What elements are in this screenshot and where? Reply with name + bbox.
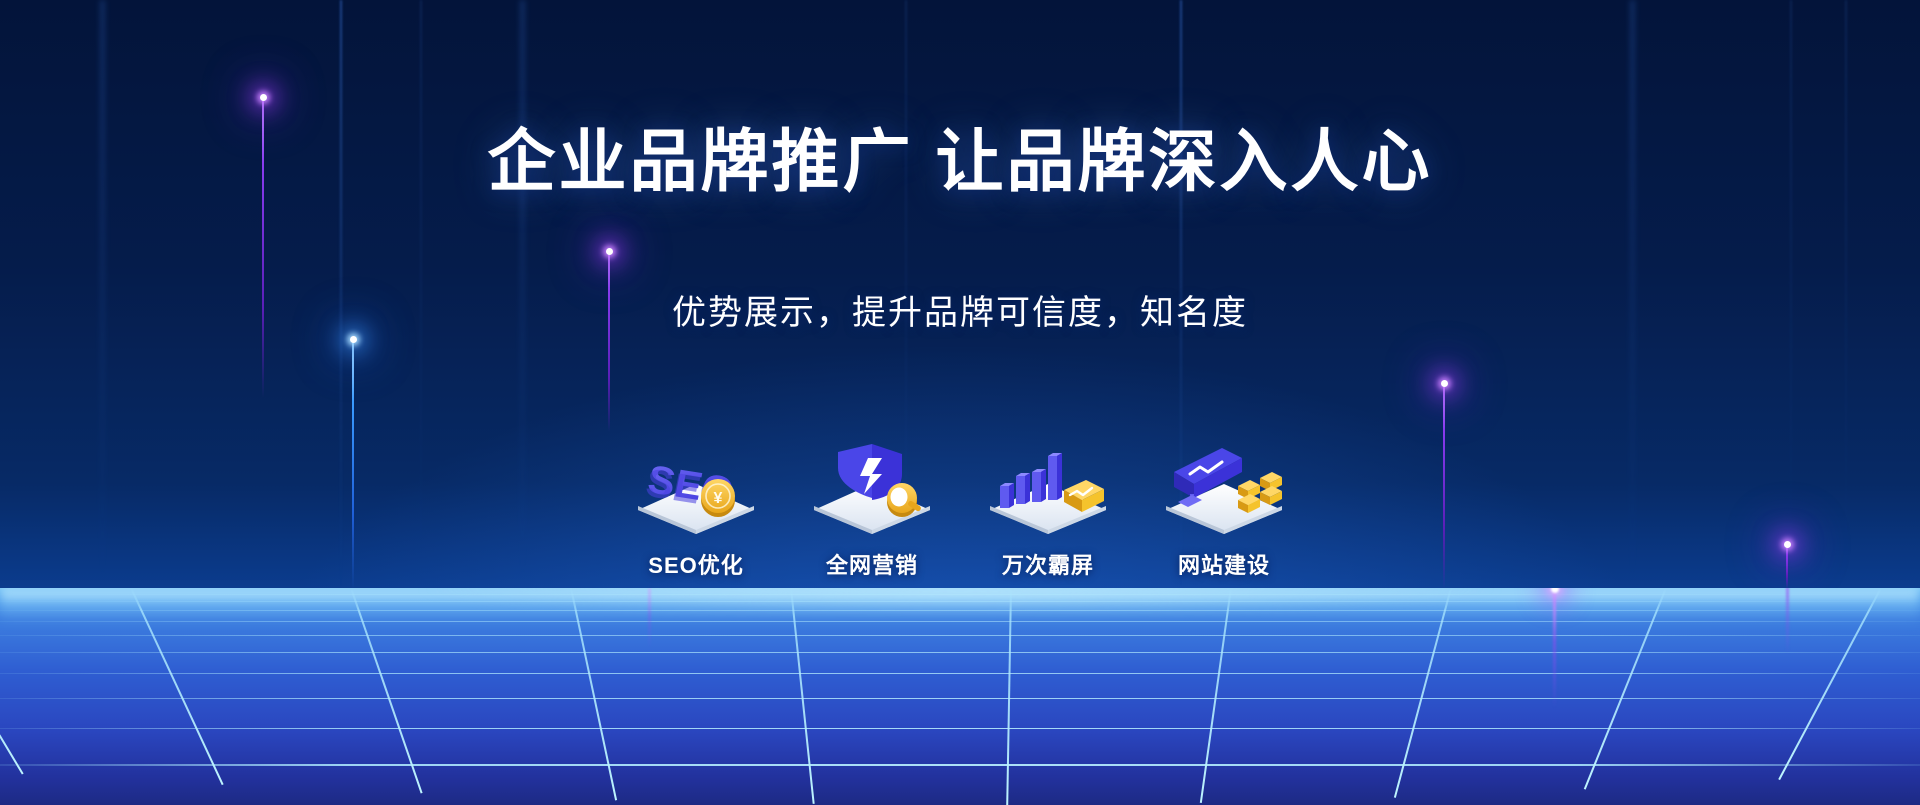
banner-content: 企业品牌推广 让品牌深入人心 优势展示，提升品牌可信度，知名度 <box>0 0 1920 805</box>
page-subtitle: 优势展示，提升品牌可信度，知名度 <box>0 285 1920 334</box>
feature-item-marketing[interactable]: 全网营销 <box>798 442 946 580</box>
monitor-blocks-icon <box>1150 442 1298 534</box>
feature-item-seo[interactable]: SEO SEO ¥ SEO优化 <box>622 442 770 580</box>
feature-list: SEO SEO ¥ SEO优化 <box>622 442 1298 580</box>
feature-item-website[interactable]: 网站建设 <box>1150 442 1298 580</box>
feature-label: SEO优化 <box>648 548 743 580</box>
svg-text:¥: ¥ <box>714 490 723 507</box>
feature-label: 网站建设 <box>1178 548 1270 580</box>
feature-label: 万次霸屏 <box>1002 548 1094 580</box>
promo-banner: 企业品牌推广 让品牌深入人心 优势展示，提升品牌可信度，知名度 <box>0 0 1920 805</box>
feature-item-screen-domination[interactable]: 万次霸屏 <box>974 442 1122 580</box>
page-title: 企业品牌推广 让品牌深入人心 <box>0 128 1920 196</box>
shield-bolt-search-icon <box>798 442 946 534</box>
seo-platform-icon: SEO SEO ¥ <box>622 442 770 534</box>
bar-chart-card-icon <box>974 442 1122 534</box>
feature-label: 全网营销 <box>826 548 918 580</box>
